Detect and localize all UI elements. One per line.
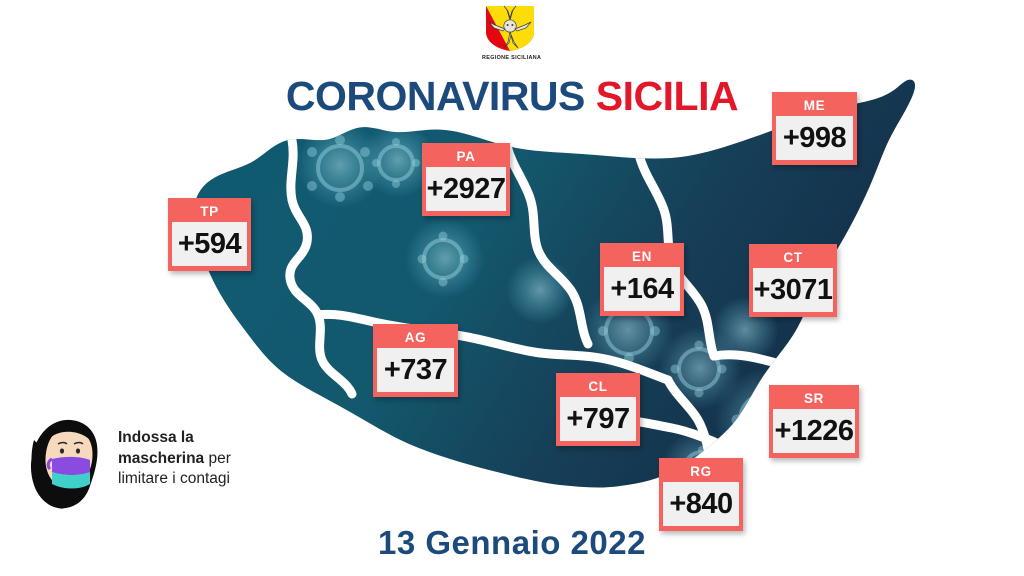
province-value-me: +998 — [776, 116, 853, 160]
province-value-pa: +2927 — [426, 167, 506, 211]
province-code-ct: CT — [753, 248, 833, 268]
province-value-tp: +594 — [172, 222, 247, 266]
province-value-ag: +737 — [377, 348, 454, 392]
regione-siciliana-emblem: REGIONE SICILIANA — [482, 2, 542, 66]
province-code-pa: PA — [426, 147, 506, 167]
province-box-ag: AG +737 — [373, 324, 458, 397]
province-code-cl: CL — [560, 377, 636, 397]
province-box-rg: RG +840 — [659, 458, 743, 531]
date-label: 13 Gennaio 2022 — [0, 524, 1024, 562]
mask-callout: Indossa la mascherina per limitare i con… — [22, 414, 282, 514]
emblem-caption: REGIONE SICILIANA — [482, 55, 538, 61]
province-box-en: EN +164 — [600, 243, 684, 316]
province-box-pa: PA +2927 — [422, 143, 510, 216]
mask-text-line2-bold: mascherina — [118, 450, 204, 467]
province-value-ct: +3071 — [753, 268, 833, 312]
province-value-cl: +797 — [560, 397, 636, 441]
province-box-tp: TP +594 — [168, 198, 251, 271]
title-coronavirus: CORONAVIRUS — [286, 73, 585, 119]
province-value-en: +164 — [604, 267, 680, 311]
province-box-ct: CT +3071 — [749, 244, 837, 317]
province-box-me: ME +998 — [772, 92, 857, 165]
province-box-sr: SR +1226 — [769, 385, 859, 458]
mask-text-line3: limitare i contagi — [118, 470, 230, 487]
province-code-sr: SR — [773, 389, 855, 409]
province-value-rg: +840 — [663, 482, 739, 526]
province-code-me: ME — [776, 96, 853, 116]
page-title: CORONAVIRUS SICILIA — [0, 76, 1024, 117]
mask-text-line1: Indossa la — [118, 429, 194, 446]
title-sicilia: SICILIA — [596, 73, 738, 119]
masked-woman-icon — [22, 414, 114, 510]
trinacria-crest-icon — [482, 2, 538, 54]
province-value-sr: +1226 — [773, 409, 855, 453]
province-code-ag: AG — [377, 328, 454, 348]
province-code-tp: TP — [172, 202, 247, 222]
mask-text-line2-rest: per — [204, 450, 231, 467]
mask-callout-text: Indossa la mascherina per limitare i con… — [118, 428, 284, 490]
province-code-en: EN — [604, 247, 680, 267]
province-code-rg: RG — [663, 462, 739, 482]
province-box-cl: CL +797 — [556, 373, 640, 446]
